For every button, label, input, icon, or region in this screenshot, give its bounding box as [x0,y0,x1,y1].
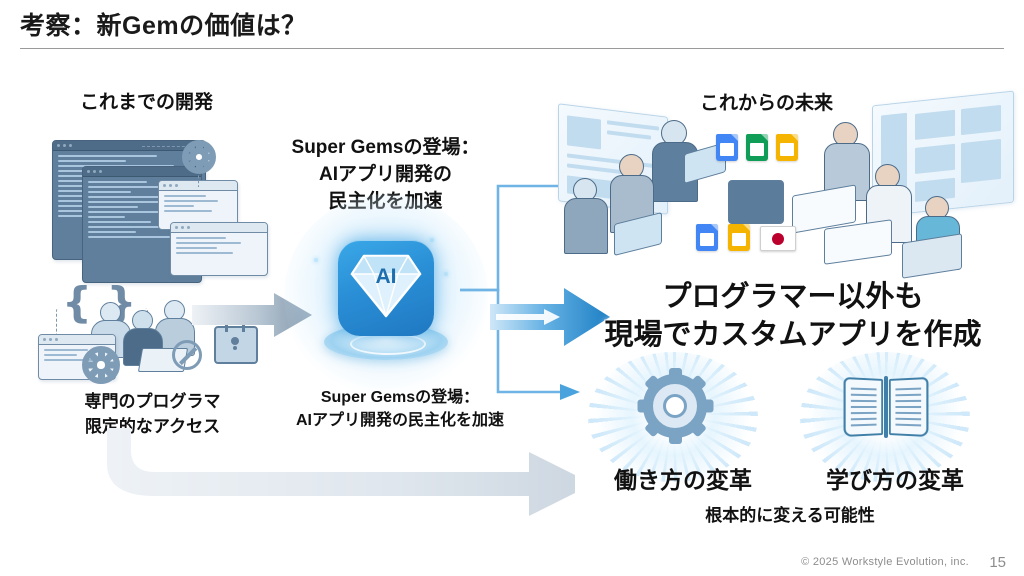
gear-icon [182,140,216,174]
page-number: 15 [989,554,1006,571]
google-slides-icon [776,134,798,161]
future-main-line-1: プログラマー以外も [588,278,998,316]
legacy-heading: これまでの開発 [80,91,213,115]
legacy-caption-line-1: 専門のプログラマ [45,390,260,415]
center-heading-line-1: Super Gemsの登場： [263,135,508,162]
google-sheets-icon [746,134,768,161]
outcome-footnote: 根本的に変える可能性 [620,505,960,527]
laptop-icon [728,180,784,224]
prohibition-icon [172,340,202,370]
diamond-icon: AI [350,250,422,320]
legacy-development-illustration: { } [34,128,284,383]
google-docs-icon [716,134,738,161]
super-gem-icon: AI [318,228,454,364]
outcome-label-learning: 学び方の変革 [800,466,990,495]
page-title: 考察：新Gemの価値は？ [20,6,307,42]
future-heading: これからの未来 [700,92,833,116]
future-main-message: プログラマー以外も 現場でカスタムアプリを作成 [588,278,998,355]
gear-icon [643,374,707,438]
title-divider [20,48,1004,49]
learning-change-burst [800,352,970,482]
gem-label: AI [376,265,397,288]
slide-canvas: 考察：新Gemの価値は？ { } [0,0,1024,576]
copyright-text: © 2025 Workstyle Evolution, inc. [801,556,969,568]
person-figure [564,178,608,254]
outcome-label-work: 働き方の変革 [588,466,778,495]
work-change-burst [588,352,758,482]
gear-icon [82,346,120,384]
gem-card: AI [338,240,434,336]
japan-flag-icon [760,226,796,251]
feedback-loop-arrow [105,428,575,518]
open-book-icon [844,378,928,436]
code-window-icon [170,222,268,276]
google-slides-icon [728,224,750,251]
google-docs-icon [696,224,718,251]
future-main-line-2: 現場でカスタムアプリを作成 [588,316,998,354]
branch-arrowhead-bottom [560,384,580,400]
